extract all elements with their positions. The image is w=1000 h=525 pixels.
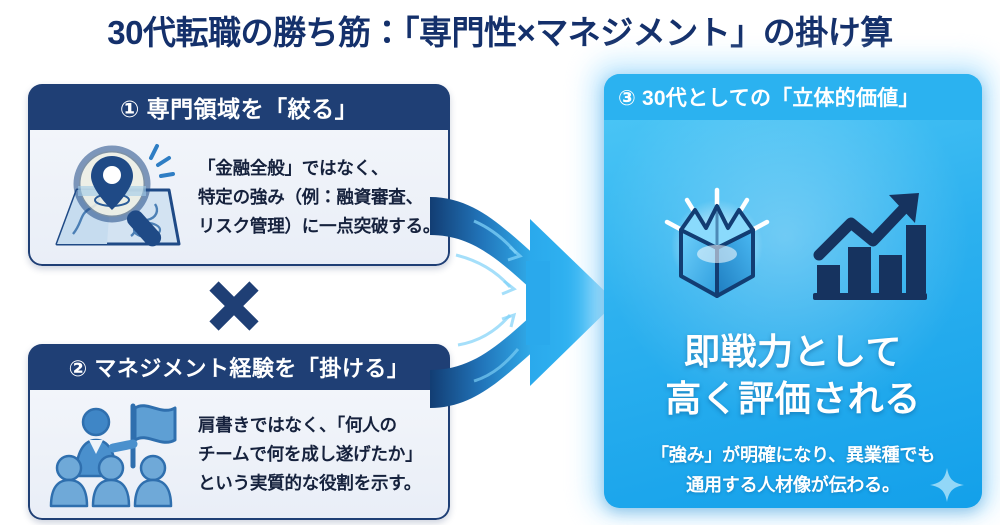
card1-text: 「金融全般」ではなく、 特定の強み（例：融資審査、 リスク管理）に一点突破する。: [198, 154, 450, 241]
panel-headline-line-1: 即戦力として: [604, 328, 982, 375]
panel-body: 即戦力として 高く評価される 「強み」が明確になり、異業種でも 通用する人材像が…: [604, 120, 982, 508]
card-specialization: ① 専門領域を「絞る」: [28, 84, 450, 266]
panel-header: ③ 30代としての「立体的価値」: [604, 74, 982, 120]
panel-caption-line-1: 「強み」が明確になり、異業種でも: [604, 440, 982, 470]
card2-text-line-1: 肩書きではなく、「何人の: [198, 411, 434, 440]
card1-header: ① 専門領域を「絞る」: [28, 84, 450, 130]
card1-text-line-3: リスク管理）に一点突破する。: [198, 212, 440, 241]
card-management: ② マネジメント経験を「掛ける」: [28, 344, 450, 520]
panel-value: ③ 30代としての「立体的価値」: [604, 74, 982, 508]
card1-text-line-2: 特定の強み（例：融資審査、: [198, 183, 440, 212]
growth-bar-chart-icon: [811, 189, 929, 306]
panel-headline: 即戦力として 高く評価される: [604, 328, 982, 422]
card2-header: ② マネジメント経験を「掛ける」: [28, 344, 450, 390]
sparkle-icon: [930, 468, 964, 502]
card2-text: 肩書きではなく、「何人の チームで何を成し遂げたか」 という実質的な役割を示す。: [198, 411, 448, 498]
card2-text-line-2: チームで何を成し遂げたか」: [198, 440, 434, 469]
map-magnifier-pin-icon: [30, 130, 198, 264]
card1-body: 「金融全般」ではなく、 特定の強み（例：融資審査、 リスク管理）に一点突破する。: [28, 130, 450, 266]
panel-headline-line-2: 高く評価される: [604, 375, 982, 422]
panel-caption: 「強み」が明確になり、異業種でも 通用する人材像が伝わる。: [604, 440, 982, 500]
team-leader-flag-icon: [30, 390, 198, 518]
card2-text-line-3: という実質的な役割を示す。: [198, 469, 434, 498]
panel-icon-row: [604, 182, 982, 312]
page-title: 30代転職の勝ち筋：「専門性×マネジメント」の掛け算: [0, 12, 1000, 54]
infographic-canvas: 30代転職の勝ち筋：「専門性×マネジメント」の掛け算 ① 専門領域を「絞る」: [0, 0, 1000, 525]
panel-caption-line-2: 通用する人材像が伝わる。: [604, 470, 982, 500]
card1-text-line-1: 「金融全般」ではなく、: [198, 154, 440, 183]
crystal-cube-icon: [657, 186, 777, 309]
multiply-sign: [206, 278, 262, 334]
card2-body: 肩書きではなく、「何人の チームで何を成し遂げたか」 という実質的な役割を示す。: [28, 390, 450, 520]
